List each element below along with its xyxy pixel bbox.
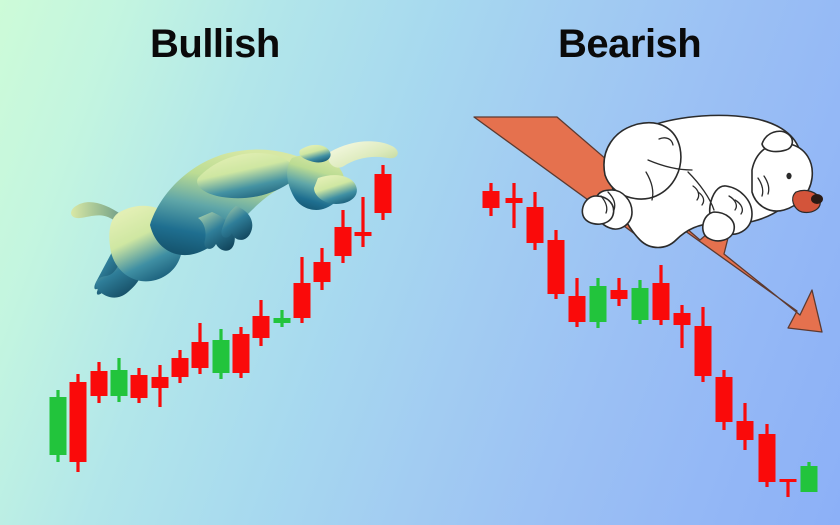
candle-body xyxy=(172,358,189,377)
candle-body xyxy=(91,371,108,396)
candle-body xyxy=(695,326,712,376)
candle-body xyxy=(70,382,87,462)
bear-hindquarter xyxy=(604,123,681,199)
bear-eye xyxy=(786,173,791,179)
candle-body xyxy=(759,434,776,482)
bull-head xyxy=(287,154,344,209)
bear-head xyxy=(752,143,812,211)
candle-body xyxy=(314,262,331,282)
candle-body xyxy=(294,283,311,318)
page-title-bullish: Bullish xyxy=(150,24,280,64)
bull-hind-hoof xyxy=(96,250,142,298)
bear-rear-leg xyxy=(595,190,632,229)
down-arrow xyxy=(474,117,822,332)
bull-body xyxy=(150,150,316,256)
candle-body xyxy=(801,466,818,492)
bull-front-leg xyxy=(198,212,235,251)
candle-body xyxy=(569,296,586,322)
candle-body xyxy=(335,227,352,256)
candle-body xyxy=(611,290,628,299)
bear-nose xyxy=(811,194,823,204)
candle-body xyxy=(233,334,250,373)
candle-body xyxy=(355,232,372,236)
bear-ear xyxy=(762,131,792,151)
bear-front-paw xyxy=(703,212,734,241)
candle-body xyxy=(590,286,607,322)
bull-front-hoof xyxy=(221,206,252,240)
bull-hind-leg xyxy=(94,236,121,295)
bear-rear-paw xyxy=(582,196,613,224)
bull-shoulder xyxy=(197,153,295,198)
bull-snout xyxy=(314,175,357,204)
candle-body xyxy=(548,240,565,294)
candle-body xyxy=(131,375,148,398)
candle-body xyxy=(213,340,230,373)
candle-body xyxy=(737,421,754,440)
bearish-candlestick-chart xyxy=(483,183,818,497)
candle-body xyxy=(527,207,544,243)
candle-body xyxy=(152,377,169,388)
scene-root: Bullish Bearish xyxy=(0,0,840,525)
bear-body-group xyxy=(582,115,812,247)
candle-body xyxy=(506,198,523,203)
candle-body xyxy=(50,397,67,455)
candle-body xyxy=(274,318,291,323)
bear-torso xyxy=(611,115,802,247)
bear-illustration xyxy=(0,0,840,525)
candle-body xyxy=(716,377,733,422)
bull-haunch xyxy=(109,206,182,282)
bear-snout xyxy=(793,190,821,212)
bullish-candlestick-chart xyxy=(50,165,392,472)
bear-fur-lines xyxy=(601,138,769,214)
bull-ear xyxy=(299,145,330,163)
candle-body xyxy=(483,191,500,208)
candle-body xyxy=(632,288,649,320)
bull-tail xyxy=(71,202,150,243)
page-title-bearish: Bearish xyxy=(558,24,701,64)
bull-illustration xyxy=(0,0,840,525)
bear-front-leg xyxy=(710,186,752,234)
candle-body xyxy=(653,283,670,320)
candle-body xyxy=(780,479,797,482)
candle-body xyxy=(375,174,392,213)
bull-horn xyxy=(328,141,398,167)
candle-body xyxy=(111,370,128,396)
candle-body xyxy=(253,316,270,338)
candlestick-charts xyxy=(0,0,840,525)
candle-body xyxy=(192,342,209,368)
candle-body xyxy=(674,313,691,325)
